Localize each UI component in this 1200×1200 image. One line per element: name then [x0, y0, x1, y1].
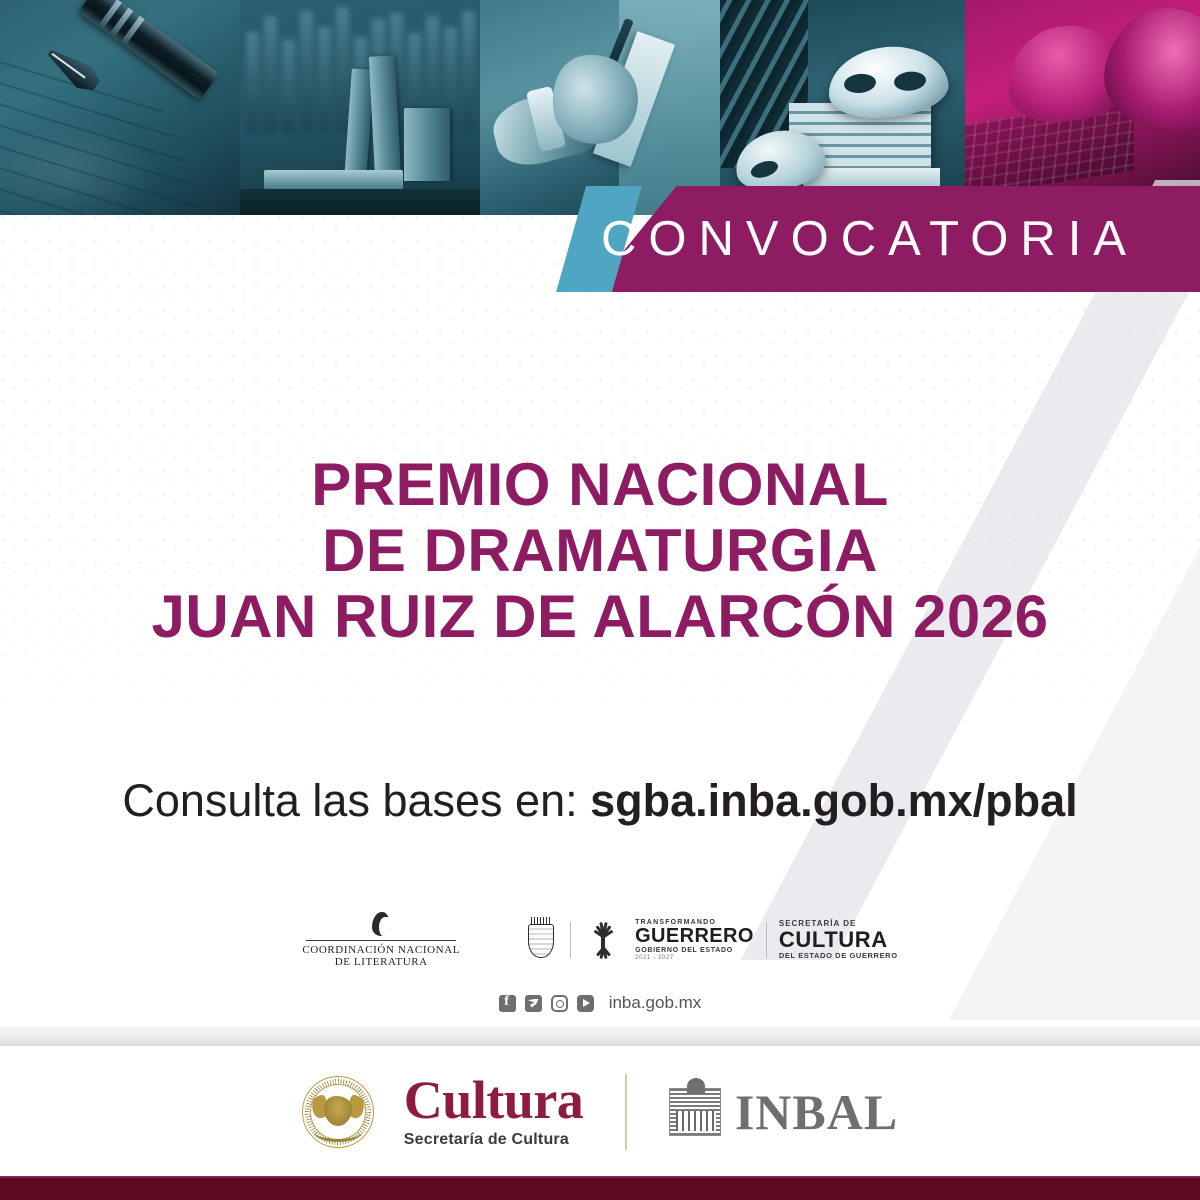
bottom-bar [0, 1178, 1200, 1200]
banner-label: CONVOCATORIA [601, 186, 1138, 292]
footer-bar: Cultura Secretaría de Cultura INBAL [0, 1046, 1200, 1178]
convocatoria-banner: CONVOCATORIA [0, 186, 1200, 292]
youtube-icon[interactable] [577, 995, 594, 1012]
photo-hand-holding-paper [480, 0, 720, 215]
cnl-line-2: DE LITERATURA [335, 956, 428, 968]
bases-url-line: Consulta las bases en: sgba.inba.gob.mx/… [0, 775, 1200, 827]
title-line-3: JUAN RUIZ DE ALARCÓN 2026 [0, 584, 1200, 650]
logo-divider-2 [766, 922, 767, 958]
cnl-line-1: COORDINACIÓN NACIONAL [302, 944, 460, 956]
inba-website-url[interactable]: inba.gob.mx [609, 993, 702, 1013]
guerrero-medium: GOBIERNO DEL ESTADO [635, 947, 754, 954]
bases-url[interactable]: sgba.inba.gob.mx/pbal [590, 775, 1078, 826]
guerrero-coat-of-arms-icon [524, 917, 558, 963]
twitter-icon[interactable] [525, 995, 542, 1012]
logo-coordinacion-nacional-literatura: COORDINACIÓN NACIONAL DE LITERATURA [302, 912, 460, 968]
logo-rule [306, 940, 456, 941]
cultura-gro-big: CULTURA [779, 928, 898, 952]
page-title: PREMIO NACIONAL DE DRAMATURGIA JUAN RUIZ… [0, 452, 1200, 650]
photo-bookshelf [240, 0, 480, 215]
guerrero-text-block: TRANSFORMANDO GUERRERO GOBIERNO DEL ESTA… [635, 919, 754, 961]
poster-canvas: CONVOCATORIA PREMIO NACIONAL DE DRAMATUR… [0, 0, 1200, 1200]
partner-logos-row: COORDINACIÓN NACIONAL DE LITERATURA [0, 912, 1200, 968]
photo-venetian-masks [720, 0, 965, 215]
inbal-wordmark: INBAL [735, 1083, 898, 1141]
bases-prefix-text: Consulta las bases en: [122, 775, 590, 826]
cultura-logo: Cultura Secretaría de Cultura [404, 1075, 584, 1149]
mexican-national-seal-icon [302, 1076, 374, 1148]
header-photo-strip [0, 0, 1200, 215]
footer-logo-divider [625, 1074, 627, 1150]
guerrero-big: GUERRERO [635, 926, 754, 947]
palacio-bellas-artes-icon [669, 1088, 721, 1136]
literature-face-icon [370, 912, 392, 938]
title-line-1: PREMIO NACIONAL [0, 452, 1200, 518]
photo-hands-typing-keyboard [965, 0, 1200, 215]
logo-divider-1 [570, 922, 571, 958]
instagram-icon[interactable] [551, 995, 568, 1012]
facebook-icon[interactable] [499, 995, 516, 1012]
book-stack-right [404, 108, 450, 181]
cultura-subtitle: Secretaría de Cultura [404, 1131, 584, 1149]
cultura-wordmark: Cultura [404, 1075, 584, 1127]
guerrero-years: 2021 - 2027 [635, 955, 754, 961]
logo-guerrero-group: TRANSFORMANDO GUERRERO GOBIERNO DEL ESTA… [524, 917, 898, 963]
cultura-gro-medium: DEL ESTADO DE GUERRERO [779, 952, 898, 960]
inbal-logo: INBAL [669, 1083, 898, 1141]
title-line-2: DE DRAMATURGIA [0, 518, 1200, 584]
photo-fountain-pen-on-manuscript [0, 0, 240, 215]
social-media-row: inba.gob.mx [0, 993, 1200, 1013]
mask-upper [824, 41, 951, 123]
footer-divider [0, 1026, 1200, 1046]
cultura-guerrero-text-block: SECRETARÍA DE CULTURA DEL ESTADO DE GUER… [779, 920, 898, 960]
tree-icon [583, 920, 623, 960]
